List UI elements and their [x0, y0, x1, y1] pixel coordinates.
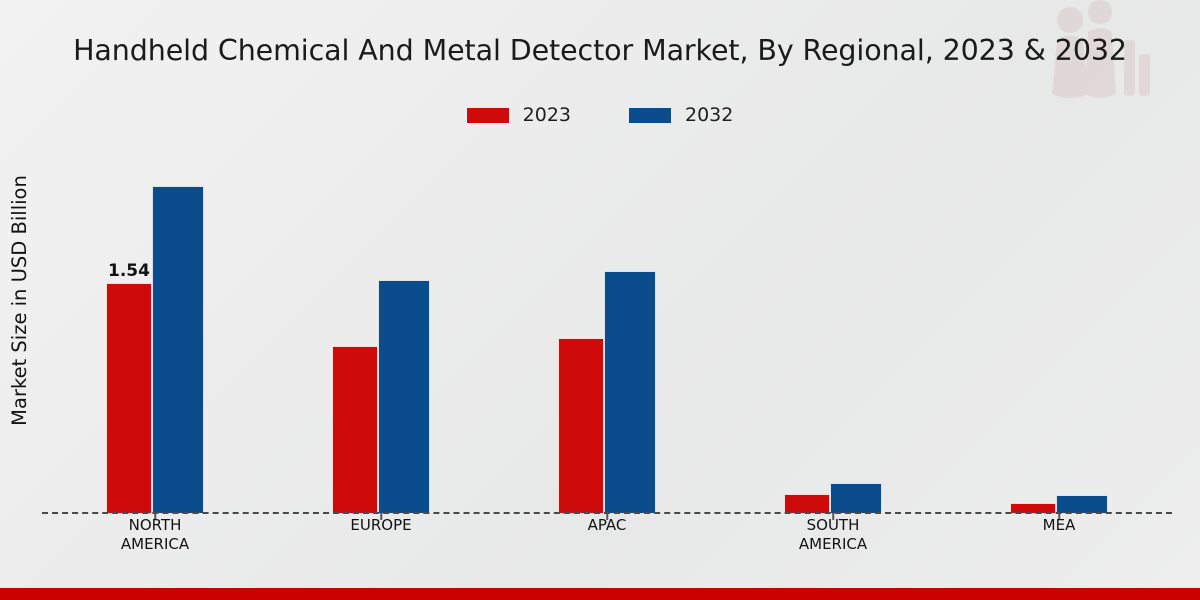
x-axis-tick-label-mea: MEA [946, 516, 1172, 554]
bar-2032-mea[interactable] [1056, 495, 1108, 513]
tick-label-line: NORTH [42, 516, 268, 535]
legend-label-2032: 2032 [685, 104, 733, 126]
bar-pair [268, 140, 494, 513]
plot-area: 1.54 [42, 140, 1172, 513]
bar-2032-apac[interactable] [604, 271, 656, 513]
x-axis-baseline [42, 512, 1172, 514]
legend-swatch-2032 [629, 108, 671, 123]
bar-pair [494, 140, 720, 513]
tick-label-line: EUROPE [268, 516, 494, 535]
bar-2023-europe[interactable] [332, 346, 378, 513]
bar-group [494, 140, 720, 513]
bar-group: 1.54 [42, 140, 268, 513]
tick-label-line: APAC [494, 516, 720, 535]
legend-swatch-2023 [467, 108, 509, 123]
bar-pair [720, 140, 946, 513]
bar-group [720, 140, 946, 513]
tick-label-line: SOUTH [720, 516, 946, 535]
tick-label-line: AMERICA [42, 535, 268, 554]
bar-2032-south-america[interactable] [830, 483, 882, 513]
x-axis-tick-label-europe: EUROPE [268, 516, 494, 554]
footer-band [0, 588, 1200, 600]
legend-item-2032[interactable]: 2032 [629, 104, 733, 126]
chart-title: Handheld Chemical And Metal Detector Mar… [0, 34, 1200, 67]
bar-2032-europe[interactable] [378, 280, 430, 513]
bar-group [946, 140, 1172, 513]
x-axis-tick-label-south-america: SOUTHAMERICA [720, 516, 946, 554]
chart-legend: 2023 2032 [0, 104, 1200, 126]
legend-item-2023[interactable]: 2023 [467, 104, 571, 126]
bar-group [268, 140, 494, 513]
bar-2023-apac[interactable] [558, 338, 604, 513]
chart-figure: Handheld Chemical And Metal Detector Mar… [0, 0, 1200, 600]
tick-label-line: AMERICA [720, 535, 946, 554]
y-axis-title-text: Market Size in USD Billion [8, 175, 31, 426]
tick-label-line: MEA [946, 516, 1172, 535]
x-axis-tick-labels: NORTHAMERICAEUROPEAPACSOUTHAMERICAMEA [42, 516, 1172, 554]
bar-2032-north-america[interactable] [152, 186, 204, 513]
bar-2023-south-america[interactable] [784, 494, 830, 513]
legend-label-2023: 2023 [523, 104, 571, 126]
x-axis-tick-label-north-america: NORTHAMERICA [42, 516, 268, 554]
bar-2023-north-america[interactable]: 1.54 [106, 283, 152, 513]
x-axis-tick-label-apac: APAC [494, 516, 720, 554]
bar-pair: 1.54 [42, 140, 268, 513]
bar-groups: 1.54 [42, 140, 1172, 513]
y-axis-title: Market Size in USD Billion [2, 0, 36, 600]
bar-value-label: 1.54 [108, 261, 150, 281]
bar-pair [946, 140, 1172, 513]
